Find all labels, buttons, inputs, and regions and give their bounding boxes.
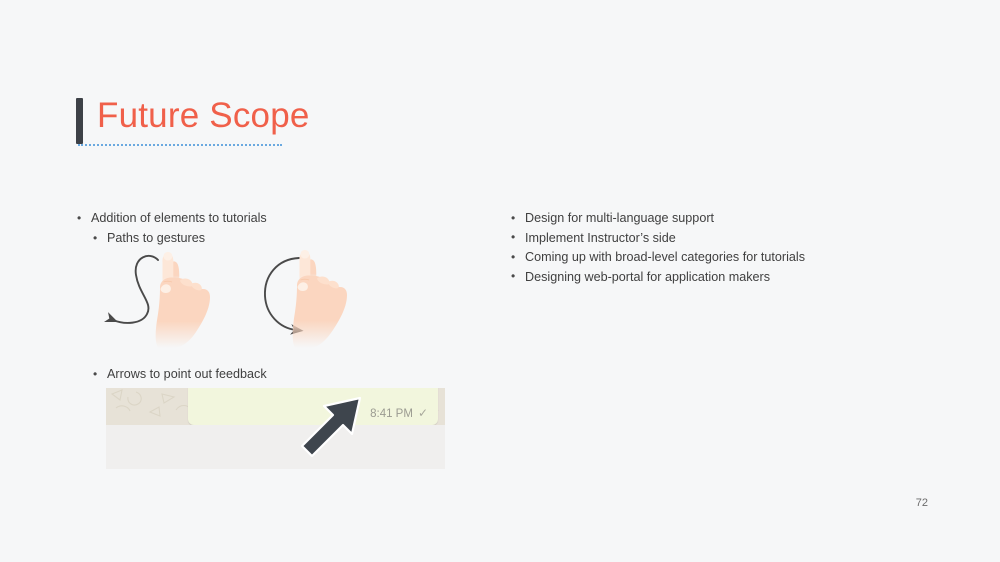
title-accent-bar: [76, 98, 83, 144]
gesture-illustrations: [100, 248, 400, 348]
list-item: Arrows to point out feedback: [76, 365, 456, 384]
chat-message-meta: 8:41 PM✓: [370, 406, 428, 420]
page-number: 72: [916, 497, 928, 509]
list-item: Paths to gestures: [76, 229, 456, 248]
slide-title-block: Future Scope: [76, 94, 496, 154]
list-item: Design for multi-language support: [510, 209, 930, 229]
chat-screenshot-image: 8:41 PM✓: [106, 388, 445, 469]
page-title: Future Scope: [97, 90, 310, 142]
list-item: Implement Instructor’s side: [510, 229, 930, 249]
chat-lower-area: [106, 425, 445, 469]
list-item: Designing web-portal for application mak…: [510, 268, 930, 288]
circular-gesture-icon: [255, 248, 405, 348]
list-item: Coming up with broad-level categories fo…: [510, 248, 930, 268]
check-icon: ✓: [418, 406, 428, 420]
title-dotted-underline: [78, 142, 282, 146]
left-column-bullets: Addition of elements to tutorials Paths …: [76, 209, 456, 249]
swipe-s-curve-gesture-icon: [100, 248, 250, 348]
slide-canvas: Future Scope Addition of elements to tut…: [0, 0, 1000, 562]
list-item: Addition of elements to tutorials: [76, 209, 456, 228]
chat-message-bubble: 8:41 PM✓: [188, 388, 438, 425]
right-column-bullets: Design for multi-language support Implem…: [510, 209, 930, 287]
chat-timestamp: 8:41 PM: [370, 408, 413, 420]
feedback-bullet-list: Arrows to point out feedback: [76, 364, 456, 384]
